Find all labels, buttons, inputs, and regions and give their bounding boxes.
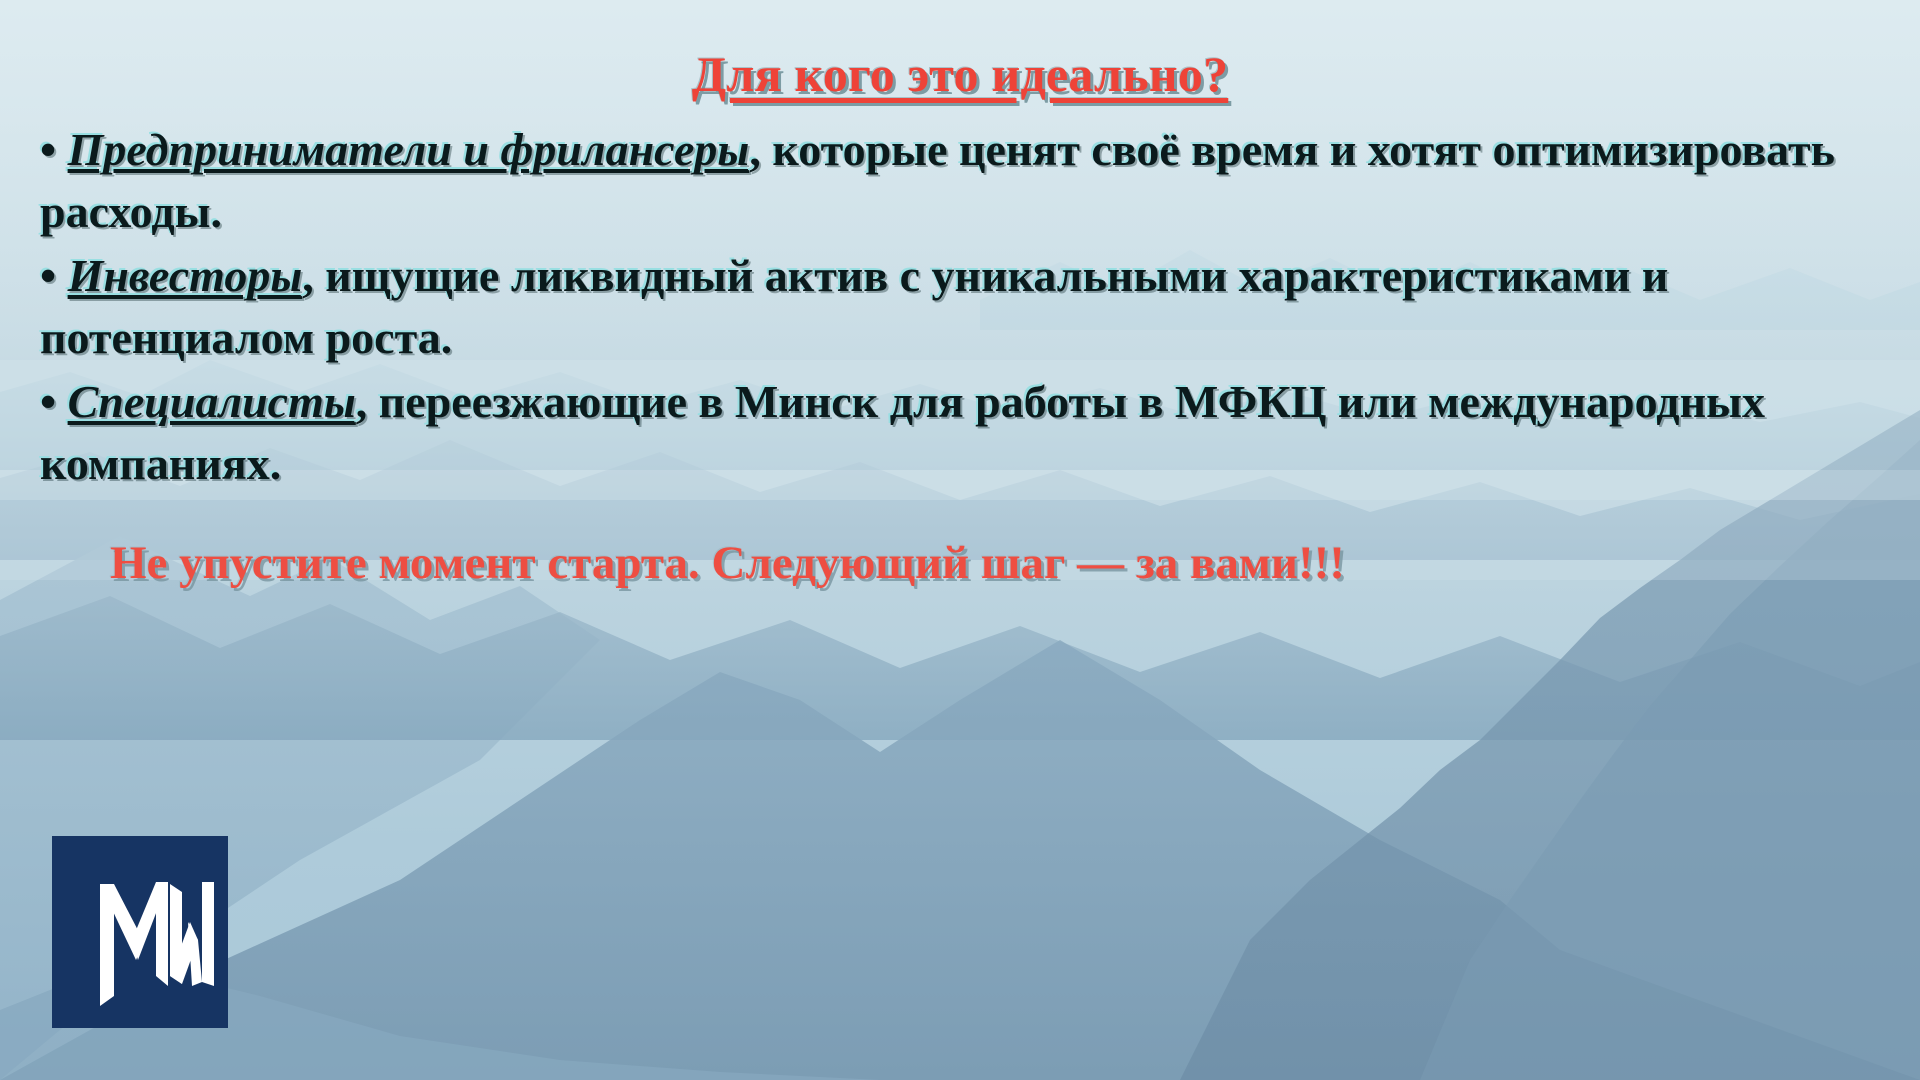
slide-title: Для кого это идеально? (692, 48, 1229, 101)
slide-canvas: Для кого это идеально? • Предприниматели… (0, 0, 1920, 1080)
bullet-item-investors: • Инвесторы, ищущие ликвидный актив с ун… (40, 245, 1886, 369)
logo-stroke-w-diagonal-right (188, 922, 202, 986)
call-to-action-text: Не упустите момент старта. Следующий шаг… (110, 535, 1345, 591)
title-row: Для кого это идеально? (0, 48, 1920, 101)
mw-monogram-logo[interactable] (52, 836, 228, 1028)
bullet-marker: • (40, 124, 56, 175)
bullet-emphasis: Инвесторы (68, 250, 303, 301)
slide-content: Для кого это идеально? • Предприниматели… (0, 48, 1920, 591)
logo-stroke-m-right (156, 882, 168, 986)
bullet-item-specialists: • Специалисты, переезжающие в Минск для … (40, 371, 1886, 495)
bullet-emphasis: Предприниматели и фрилансеры (68, 124, 750, 175)
bullet-marker: • (40, 250, 56, 301)
bullet-item-entrepreneurs: • Предприниматели и фрилансеры, которые … (40, 119, 1886, 243)
bullet-marker: • (40, 376, 56, 427)
logo-stroke-w-right (202, 882, 214, 986)
bullet-list: • Предприниматели и фрилансеры, которые … (0, 119, 1920, 496)
bullet-emphasis: Специалисты (68, 376, 356, 427)
call-to-action-row: Не упустите момент старта. Следующий шаг… (0, 535, 1920, 591)
